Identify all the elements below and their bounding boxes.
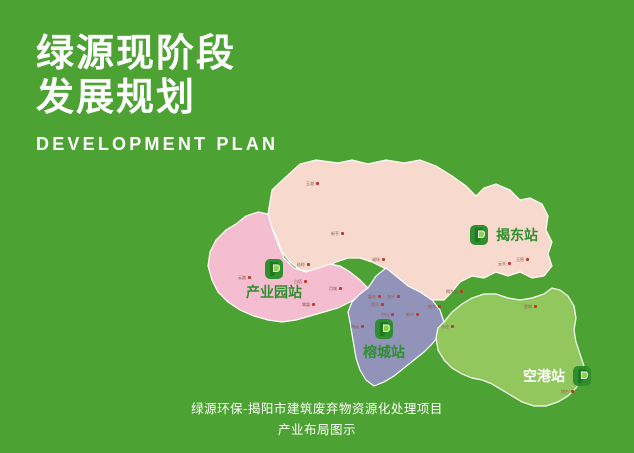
city-label: 锡场 (372, 257, 380, 262)
city-marker: 榕东 (428, 304, 441, 309)
city-label: 揭东县 (446, 289, 458, 294)
city-dot-icon (341, 232, 344, 235)
caption-line1: 绿源环保-揭阳市建筑废弃物资源化处理项目 (0, 399, 634, 420)
header-block: 绿源现阶段 发展规划 DEVELOPMENT PLAN (36, 32, 456, 155)
city-dot-icon (526, 258, 529, 261)
city-label: 东径 (441, 324, 449, 329)
city-dot-icon (416, 313, 419, 316)
lvyuan-logo-icon (469, 224, 489, 246)
poster-root: 玉湖 新亨 锡场 桂岭 云路 白塔 月城 霖磐 (0, 0, 634, 453)
city-label: 东兴 (387, 294, 395, 299)
station-label-chanyeyuan: 产业园站 (246, 282, 302, 302)
city-dot-icon (571, 390, 574, 393)
lvyuan-logo-icon (264, 258, 284, 280)
city-dot-icon (451, 325, 454, 328)
city-marker: 西马 (371, 302, 384, 307)
city-dot-icon (508, 262, 511, 265)
caption-line2: 产业布局图示 (0, 420, 634, 441)
city-marker: 锡场 (372, 257, 385, 262)
city-label: 玉窖 (516, 257, 524, 262)
city-dot-icon (307, 263, 310, 266)
city-dot-icon (460, 290, 463, 293)
page-subtitle: DEVELOPMENT PLAN (36, 134, 456, 155)
city-label: 磐东 (368, 294, 376, 299)
city-marker: 霖磐 (302, 302, 315, 307)
city-dot-icon (378, 295, 381, 298)
city-dot-icon (381, 303, 384, 306)
city-label: 月城 (329, 286, 337, 291)
page-title-line1: 绿源现阶段 (36, 32, 456, 76)
city-marker: 新兴 (406, 312, 419, 317)
city-label: 霖磐 (302, 302, 310, 307)
city-marker: 云光 (498, 261, 511, 266)
city-label: 玉湖 (306, 181, 314, 186)
city-marker: 中山 (381, 312, 394, 317)
city-dot-icon (339, 287, 342, 290)
page-title-line2: 发展规划 (36, 76, 456, 120)
city-dot-icon (438, 305, 441, 308)
station-marker-jiedong[interactable]: 揭东站 (469, 224, 538, 246)
city-label: 中山 (381, 312, 389, 317)
lvyuan-logo-icon (374, 318, 394, 340)
city-marker: 月城 (329, 286, 342, 291)
city-dot-icon (382, 258, 385, 261)
city-marker: 磐东 (368, 294, 381, 299)
city-label: 炮台 (561, 389, 569, 394)
city-dot-icon (534, 305, 537, 308)
city-dot-icon (316, 182, 319, 185)
city-label: 云光 (498, 261, 506, 266)
city-label: 新亨 (331, 231, 339, 236)
city-marker: 揭东县 (446, 289, 463, 294)
city-marker: 玉湖 (306, 181, 319, 186)
city-marker: 炮台 (561, 389, 574, 394)
city-marker: 新亨 (331, 231, 344, 236)
city-label: 西马 (371, 302, 379, 307)
city-label: 榕东 (428, 304, 436, 309)
city-label: 云路 (238, 275, 246, 280)
city-label: 登岗 (524, 304, 532, 309)
city-marker: 登岗 (524, 304, 537, 309)
station-marker-konggang[interactable]: 空港站 (523, 365, 592, 387)
station-marker-chanyeyuan[interactable]: 产业园站 (246, 258, 302, 302)
city-dot-icon (391, 313, 394, 316)
station-marker-rongcheng[interactable]: 榕城站 (363, 318, 405, 362)
caption-block: 绿源环保-揭阳市建筑废弃物资源化处理项目 产业布局图示 (0, 399, 634, 441)
lvyuan-logo-icon (572, 365, 592, 387)
city-marker: 东兴 (387, 294, 400, 299)
city-label: 梅云 (351, 324, 359, 329)
city-dot-icon (304, 280, 307, 283)
city-dot-icon (312, 303, 315, 306)
city-marker: 东径 (441, 324, 454, 329)
station-label-jiedong: 揭东站 (496, 225, 538, 245)
city-label: 新兴 (406, 312, 414, 317)
station-label-rongcheng: 榕城站 (363, 342, 405, 362)
city-marker: 玉窖 (516, 257, 529, 262)
station-label-konggang: 空港站 (523, 366, 565, 386)
city-dot-icon (397, 295, 400, 298)
